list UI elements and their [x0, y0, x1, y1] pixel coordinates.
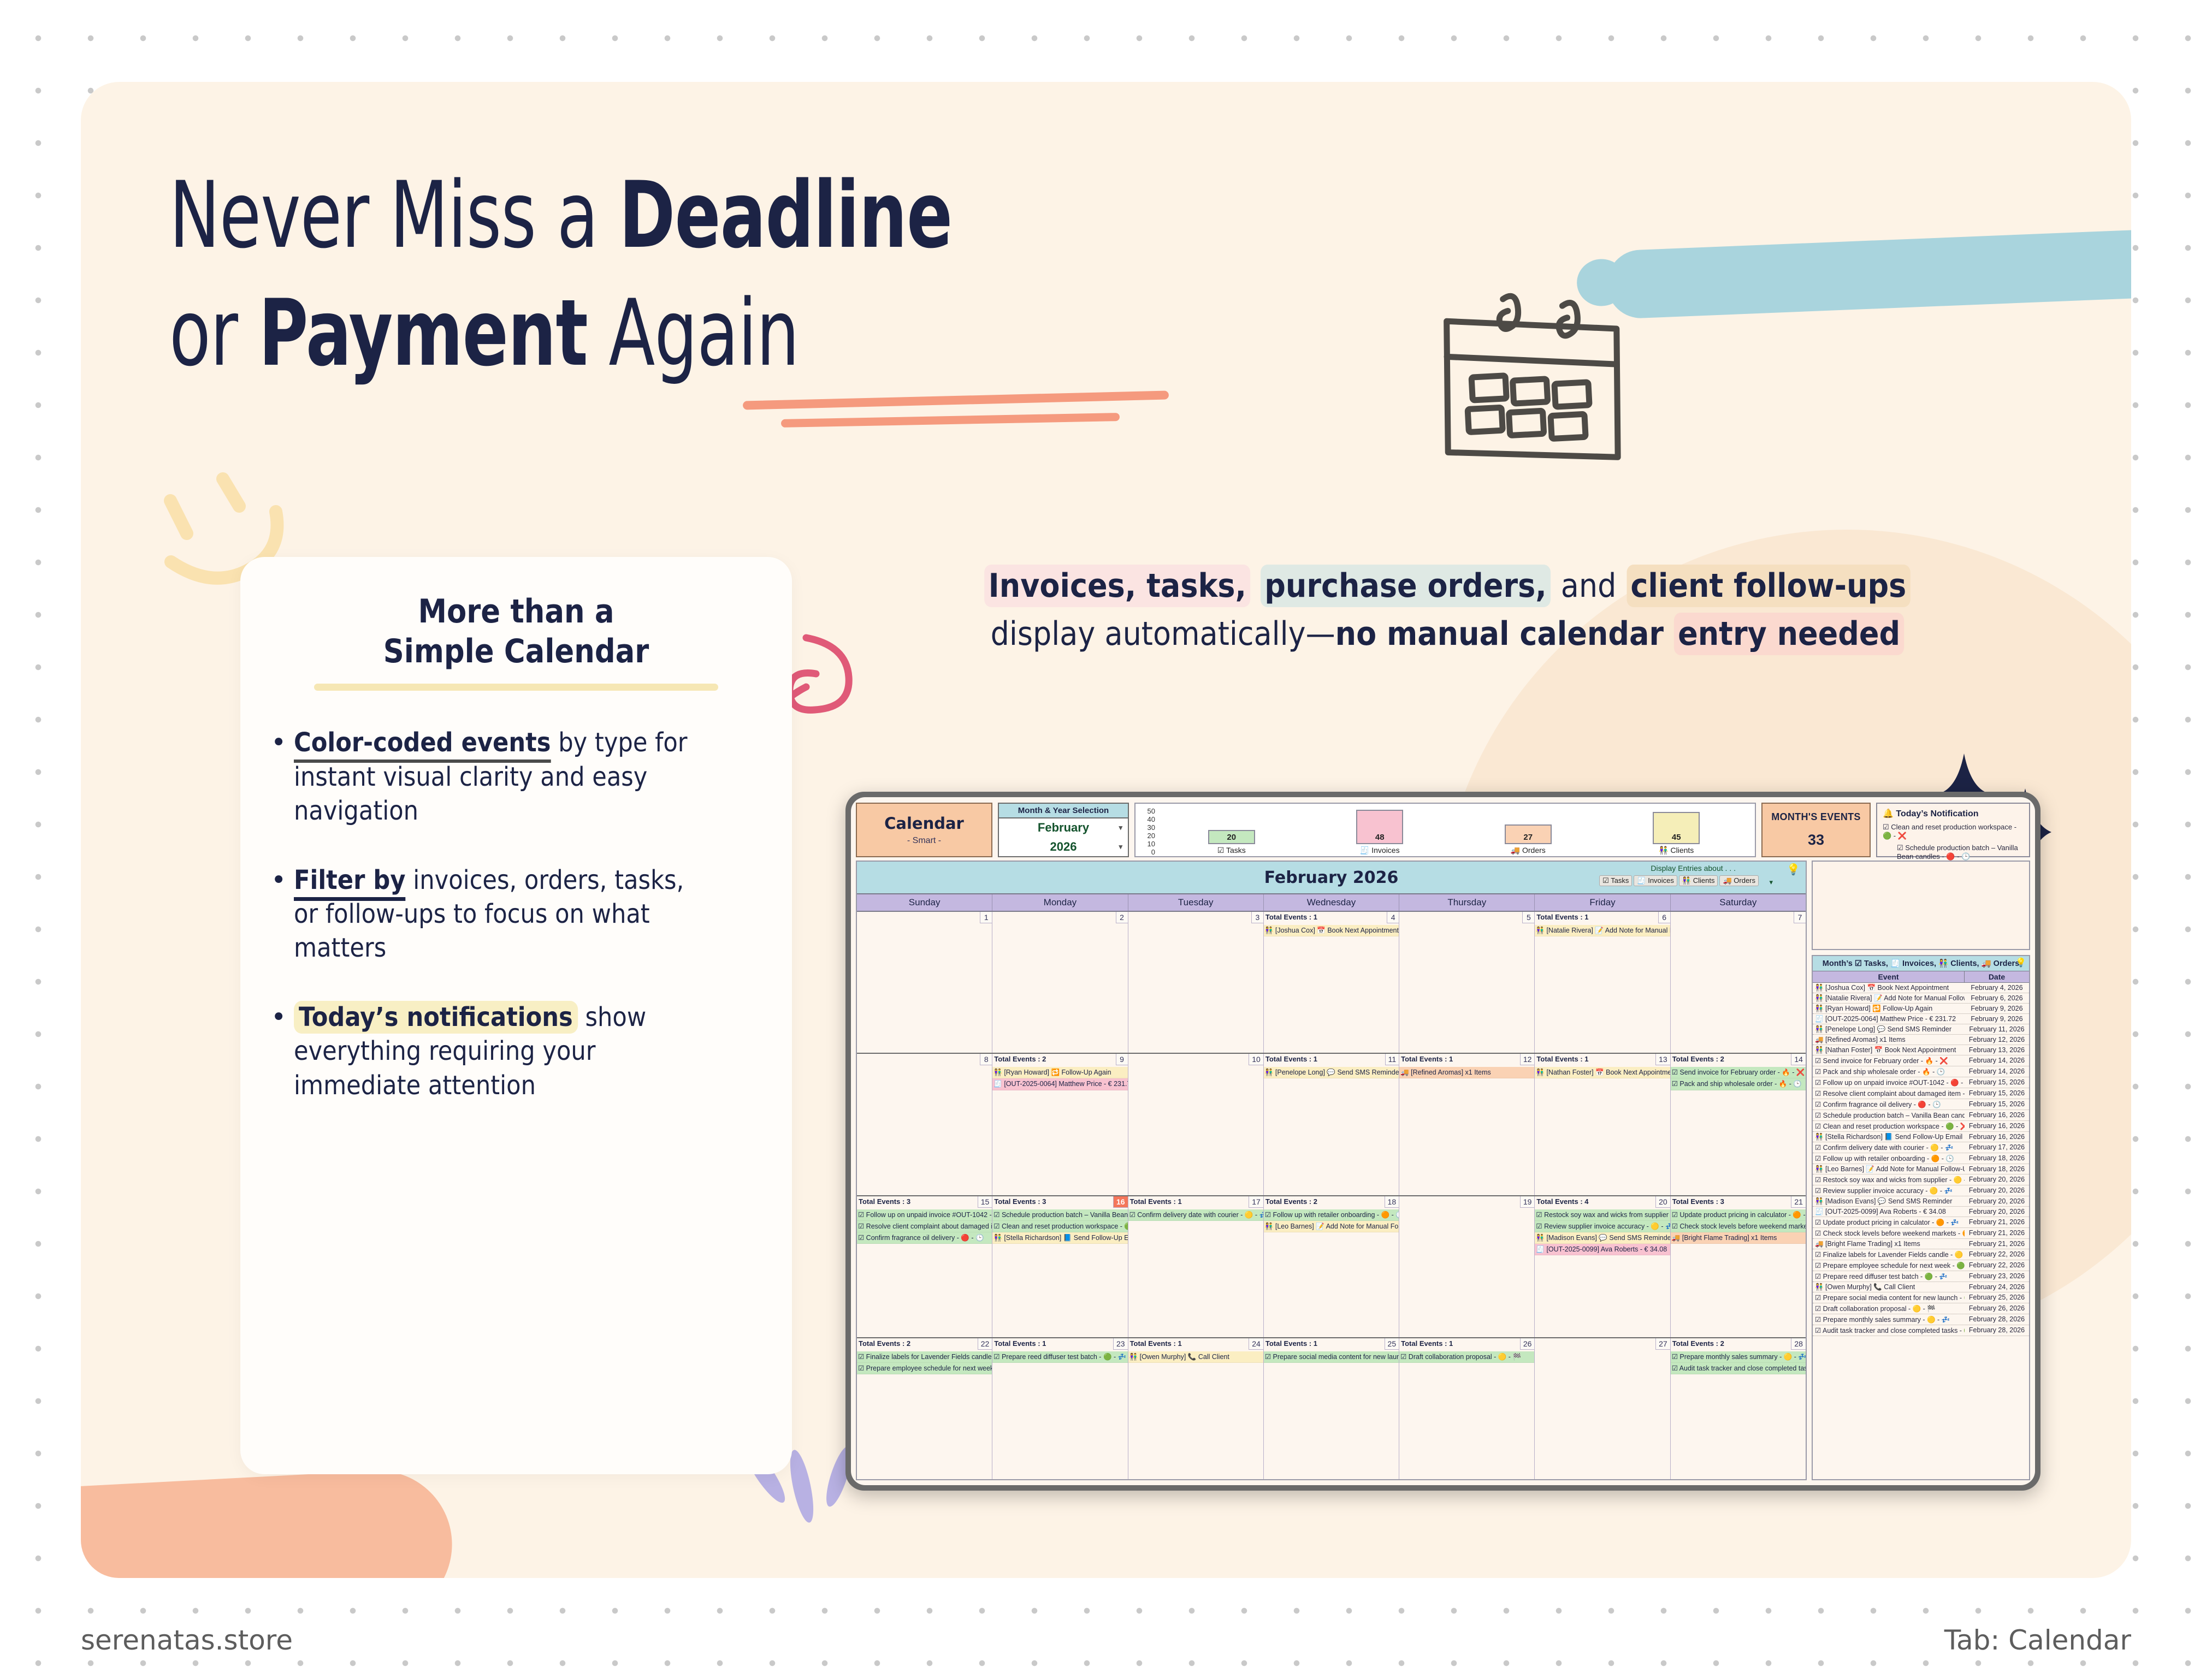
table-row[interactable]: 👫 [Leo Barnes] 📝 Add Note for Manual Fol… [1813, 1164, 2029, 1174]
calendar-event[interactable]: ☑ Finalize labels for Lavender Fields ca… [857, 1351, 992, 1363]
bullet-3-bold: Today’s notifications [294, 1001, 578, 1034]
chart-bar: 27 [1505, 824, 1552, 844]
event-cell: 👫 [Stella Richardson] 📘 Send Follow-Up E… [1813, 1132, 1965, 1142]
day-number: 26 [1520, 1338, 1535, 1350]
calendar-month-title: February 2026 [1264, 868, 1399, 887]
table-row[interactable]: 👫 [Owen Murphy] 📞 Call ClientFebruary 24… [1813, 1282, 2029, 1292]
event-cell: ☑ Send invoice for February order - 🔥 - … [1813, 1055, 1965, 1066]
table-row[interactable]: 👫 [Stella Richardson] 📘 Send Follow-Up E… [1813, 1132, 2029, 1142]
day-total-events: Total Events : 1 [1265, 1055, 1317, 1063]
event-cell: ☑ Draft collaboration proposal - 🟡 - 🏁 [1813, 1303, 1965, 1314]
feature-info-card: More than a Simple Calendar • Color-code… [240, 557, 792, 1474]
table-row[interactable]: ☑ Prepare employee schedule for next wee… [1813, 1260, 2029, 1271]
day-number: 14 [1791, 1054, 1806, 1065]
event-cell: 🧾 [OUT-2025-0064] Matthew Price - € 231.… [1813, 1014, 1965, 1024]
months-events-label: MONTH'S EVENTS [1771, 811, 1861, 823]
calendar-event[interactable]: ☑ Send invoice for February order - 🔥 - … [1671, 1067, 1806, 1078]
day-total-events: Total Events : 1 [1536, 913, 1588, 921]
day-total-events: Total Events : 1 [1265, 913, 1317, 921]
table-row[interactable]: ☑ Check stock levels before weekend mark… [1813, 1228, 2029, 1239]
calendar-day-cell[interactable]: Total Events : 123☑ Prepare reed diffuse… [992, 1338, 1128, 1479]
calendar-day-cell[interactable]: Total Events : 222☑ Finalize labels for … [857, 1338, 992, 1479]
calendar-day-cell[interactable]: Total Events : 112🚚 [Refined Aromas] x1 … [1399, 1054, 1535, 1195]
month-dropdown[interactable]: February ▾ [999, 818, 1128, 838]
event-cell: 👫 [Nathan Foster] 📅 Book Next Appointmen… [1813, 1045, 1965, 1055]
date-cell: February 15, 2026 [1965, 1099, 2029, 1110]
table-row[interactable]: 👫 [Joshua Cox] 📅 Book Next AppointmentFe… [1813, 983, 2029, 993]
calendar-event[interactable]: 👫 [Madison Evans] 💬 Send SMS Reminder [1535, 1232, 1670, 1244]
date-cell: February 21, 2026 [1965, 1217, 2029, 1227]
day-number: 10 [1249, 1054, 1263, 1065]
filter-chip[interactable]: 👫 Clients [1679, 875, 1718, 886]
event-cell: ☑ Prepare reed diffuser test batch - 🟢 -… [1813, 1271, 1965, 1282]
chart-bars: 20☑ Tasks48🧾 Invoices27🚚 Orders45👫 Clien… [1157, 807, 1750, 855]
calendar-event[interactable]: ☑ Schedule production batch – Vanilla Be… [992, 1209, 1127, 1221]
calendar-week-row: 8Total Events : 29👫 [Ryan Howard] 🔁 Foll… [857, 1054, 1806, 1196]
chart-bar-group: 45👫 Clients [1611, 812, 1742, 855]
calendar-week-row: Total Events : 222☑ Finalize labels for … [857, 1338, 1806, 1479]
day-number: 4 [1387, 912, 1399, 923]
date-cell: February 14, 2026 [1965, 1066, 2029, 1077]
list-item: • Color-coded events by type for instant… [271, 726, 761, 828]
notification-spacer-box [1812, 861, 2030, 950]
chart-bar: 20 [1208, 830, 1255, 844]
subheading-part-client-follow-ups: client follow-ups [1627, 565, 1910, 607]
list-rows: 👫 [Joshua Cox] 📅 Book Next AppointmentFe… [1813, 983, 2029, 1336]
year-value: 2026 [1050, 840, 1077, 854]
months-entries-list: Month’s ☑ Tasks, 🧾 Invoices, 👫 Clients, … [1812, 955, 2030, 1480]
calendar-event[interactable]: 👫 [Joshua Cox] 📅 Book Next Appointment [1264, 925, 1399, 936]
calendar-event[interactable]: 👫 [Owen Murphy] 📞 Call Client [1128, 1351, 1263, 1363]
calendar-event[interactable]: ☑ Confirm fragrance oil delivery - 🔴 - 🕒 [857, 1232, 992, 1244]
day-of-week-cell: Friday [1535, 894, 1670, 911]
headline-line1-bold: Deadline [619, 162, 952, 269]
table-row[interactable]: 👫 [Ryan Howard] 🔁 Follow-Up AgainFebruar… [1813, 1004, 2029, 1014]
date-cell: February 9, 2026 [1965, 1014, 2029, 1024]
calendar-day-cell[interactable]: 7 [1671, 912, 1806, 1053]
calendar-day-cell[interactable]: Total Events : 124👫 [Owen Murphy] 📞 Call… [1128, 1338, 1264, 1479]
headline-line2-plain-b: Again [588, 280, 799, 387]
day-number: 15 [978, 1196, 992, 1208]
event-cell: ☑ Confirm delivery date with courier - 🟡… [1813, 1142, 1965, 1153]
date-cell: February 17, 2026 [1965, 1142, 2029, 1153]
info-card-title-line2: Simple Calendar [300, 632, 732, 672]
chart-y-tick: 10 [1139, 840, 1155, 848]
event-cell: ☑ Review supplier invoice accuracy - 🟡 -… [1813, 1185, 1965, 1196]
bullet-text: Today’s notifications show everything re… [294, 1000, 714, 1102]
calendar-event[interactable]: 🧾 [OUT-2025-0099] Ava Roberts - € 34.08 [1535, 1244, 1670, 1255]
chart-bar-label: ☑ Tasks [1217, 846, 1246, 855]
date-cell: February 21, 2026 [1965, 1228, 2029, 1238]
day-number: 18 [1385, 1196, 1399, 1208]
table-row[interactable]: 🚚 [Refined Aromas] x1 ItemsFebruary 12, … [1813, 1035, 2029, 1045]
bullet-1-bold: Color-coded events [294, 727, 551, 763]
day-number: 17 [1249, 1196, 1263, 1208]
month-year-header: Month & Year Selection [999, 804, 1128, 818]
day-total-events: Total Events : 2 [994, 1055, 1046, 1063]
event-cell: 👫 [Leo Barnes] 📝 Add Note for Manual Fol… [1813, 1164, 1965, 1174]
day-total-events: Total Events : 1 [1265, 1339, 1317, 1348]
table-row[interactable]: 👫 [Madison Evans] 💬 Send SMS ReminderFeb… [1813, 1196, 2029, 1207]
day-number: 24 [1249, 1338, 1263, 1350]
headline-line2-bold: Payment [259, 280, 588, 387]
event-cell: ☑ Prepare employee schedule for next wee… [1813, 1260, 1965, 1271]
chart-y-tick: 30 [1139, 823, 1155, 832]
table-row[interactable]: ☑ Finalize labels for Lavender Fields ca… [1813, 1249, 2029, 1260]
spreadsheet-top-bar: Calendar - Smart - Month & Year Selectio… [851, 797, 2035, 861]
calendar-event[interactable]: 👫 [Stella Richardson] 📘 Send Follow-Up E… [992, 1232, 1127, 1244]
list-item: • Filter by invoices, orders, tasks, or … [271, 863, 761, 965]
day-number: 20 [1655, 1196, 1670, 1208]
date-cell: February 25, 2026 [1965, 1292, 2029, 1303]
bullet-text: Filter by invoices, orders, tasks, or fo… [294, 863, 714, 965]
chart-y-tick: 50 [1139, 807, 1155, 815]
day-total-events: Total Events : 1 [1536, 1055, 1588, 1063]
calendar-day-cell[interactable]: Total Events : 16👫 [Natalie Rivera] 📝 Ad… [1535, 912, 1670, 1053]
day-total-events: Total Events : 2 [1265, 1197, 1317, 1206]
calendar-day-cell[interactable]: Total Events : 113👫 [Nathan Foster] 📅 Bo… [1535, 1054, 1670, 1195]
month-year-selection-panel: Month & Year Selection February ▾ 2026 ▾ [998, 803, 1129, 857]
date-cell: February 9, 2026 [1965, 1004, 2029, 1013]
calendar-header-band: February 2026 Display Entries about . . … [857, 862, 1806, 893]
day-total-events: Total Events : 2 [1672, 1339, 1724, 1348]
chart-bar-group: 48🧾 Invoices [1315, 810, 1445, 855]
calendar-day-cell[interactable]: Total Events : 14👫 [Joshua Cox] 📅 Book N… [1264, 912, 1399, 1053]
calendar-day-cell[interactable]: Total Events : 117☑ Confirm delivery dat… [1128, 1196, 1264, 1337]
subheading-part-display-auto: display automatically— [991, 615, 1335, 653]
months-events-card: MONTH'S EVENTS 33 [1761, 803, 1871, 857]
chevron-down-icon: ▾ [1119, 843, 1122, 851]
day-number: 5 [1522, 912, 1534, 923]
event-cell: ☑ Follow up on unpaid invoice #OUT-1042 … [1813, 1077, 1965, 1088]
day-total-events: Total Events : 3 [1672, 1197, 1724, 1206]
date-cell: February 15, 2026 [1965, 1088, 2029, 1099]
calendar-event[interactable]: ☑ Draft collaboration proposal - 🟡 - 🏁 [1399, 1351, 1534, 1363]
calendar-day-cell[interactable]: Total Events : 321☑ Update product prici… [1671, 1196, 1806, 1337]
yellow-title-underline [314, 684, 718, 691]
day-of-week-header: SundayMondayTuesdayWednesdayThursdayFrid… [857, 893, 1806, 912]
date-cell: February 20, 2026 [1965, 1207, 2029, 1217]
event-cell: ☑ Finalize labels for Lavender Fields ca… [1813, 1249, 1965, 1260]
bullet-2-bold: Filter by [294, 865, 406, 901]
table-row[interactable]: ☑ Audit task tracker and close completed… [1813, 1325, 2029, 1336]
spreadsheet-screenshot-frame: Tab: Instructions Calendar - Smart - Mon… [845, 792, 2041, 1491]
event-cell: ☑ Schedule production batch – Vanilla Be… [1813, 1110, 1965, 1120]
day-number: 28 [1791, 1338, 1806, 1350]
date-cell: February 12, 2026 [1965, 1035, 2029, 1045]
calendar-day-cell[interactable]: Total Events : 316☑ Schedule production … [992, 1196, 1128, 1337]
day-number: 16 [1113, 1196, 1128, 1208]
calendar-day-cell[interactable]: 27 [1535, 1338, 1670, 1479]
date-cell: February 22, 2026 [1965, 1260, 2029, 1271]
day-of-week-cell: Tuesday [1128, 894, 1264, 911]
calendar-doodle-icon [1426, 287, 1655, 478]
table-row[interactable]: ☑ Prepare monthly sales summary - 🟡 - 💤F… [1813, 1314, 2029, 1325]
calendar-event[interactable]: 👫 [Natalie Rivera] 📝 Add Note for Manual… [1535, 925, 1670, 936]
calendar-event[interactable]: ☑ Audit task tracker and close completed… [1671, 1363, 1806, 1374]
table-row[interactable]: ☑ Update product pricing in calculator -… [1813, 1217, 2029, 1228]
event-cell: ☑ Confirm fragrance oil delivery - 🔴 - 🕒 [1813, 1099, 1965, 1110]
bullet-dot: • [271, 726, 294, 828]
calendar-day-cell[interactable]: Total Events : 315☑ Follow up on unpaid … [857, 1196, 992, 1337]
calendar-event[interactable]: ☑ Check stock levels before weekend mark… [1671, 1221, 1806, 1232]
headline-line2-plain-a: or [169, 280, 259, 387]
table-row[interactable]: 👫 [Penelope Long] 💬 Send SMS ReminderFeb… [1813, 1024, 2029, 1035]
date-cell: February 16, 2026 [1965, 1121, 2029, 1131]
info-card-title-line1: More than a [300, 592, 732, 632]
day-number: 25 [1385, 1338, 1399, 1350]
right-side-panel: Month’s ☑ Tasks, 🧾 Invoices, 👫 Clients, … [1812, 861, 2030, 1480]
calendar-day-cell[interactable]: 8 [857, 1054, 992, 1195]
months-events-value: 33 [1808, 832, 1824, 849]
bullet-text: Color-coded events by type for instant v… [294, 726, 714, 828]
day-number: 27 [1655, 1338, 1670, 1350]
table-row[interactable]: ☑ Restock soy wax and wicks from supplie… [1813, 1174, 2029, 1185]
spreadsheet-app: Tab: Instructions Calendar - Smart - Mon… [851, 797, 2035, 1485]
date-cell: February 4, 2026 [1965, 983, 2029, 993]
day-number: 6 [1658, 912, 1670, 923]
summary-bar-chart: 50403020100 20☑ Tasks48🧾 Invoices27🚚 Ord… [1134, 803, 1756, 857]
chart-bar-label: 👫 Clients [1659, 846, 1694, 855]
calendar-day-cell[interactable]: Total Events : 29👫 [Ryan Howard] 🔁 Follo… [992, 1054, 1128, 1195]
table-row[interactable]: ☑ Clean and reset production workspace -… [1813, 1121, 2029, 1132]
footer-tab-name: Tab: Calendar [1944, 1624, 2131, 1656]
day-total-events: Total Events : 1 [994, 1339, 1046, 1348]
calendar-event[interactable]: ☑ Review supplier invoice accuracy - 🟡 -… [1535, 1221, 1670, 1232]
subheading-inner: Invoices, tasks, purchase orders, and cl… [951, 562, 1944, 658]
calendar-event[interactable]: ☑ Prepare monthly sales summary - 🟡 - 💤 [1671, 1351, 1806, 1363]
list-column-headers: Event Date [1813, 971, 2029, 983]
day-number: 13 [1655, 1054, 1670, 1065]
calendar-day-cell[interactable]: 2 [992, 912, 1128, 1053]
calendar-event[interactable]: 👫 [Ryan Howard] 🔁 Follow-Up Again [992, 1067, 1127, 1078]
day-number: 21 [1791, 1196, 1806, 1208]
event-cell: 👫 [Ryan Howard] 🔁 Follow-Up Again [1813, 1004, 1965, 1013]
decor-teal-brushstroke [1606, 229, 2131, 319]
day-number: 9 [1116, 1054, 1128, 1065]
event-cell: 👫 [Joshua Cox] 📅 Book Next Appointment [1813, 983, 1965, 993]
event-cell: ☑ Clean and reset production workspace -… [1813, 1121, 1965, 1131]
calendar-event[interactable]: 👫 [Penelope Long] 💬 Send SMS Reminder [1264, 1067, 1399, 1078]
day-total-events: Total Events : 2 [1672, 1055, 1724, 1063]
calendar-day-cell[interactable]: Total Events : 214☑ Send invoice for Feb… [1671, 1054, 1806, 1195]
date-cell: February 15, 2026 [1965, 1077, 2029, 1088]
event-cell: ☑ Prepare monthly sales summary - 🟡 - 💤 [1813, 1314, 1965, 1325]
info-card-title: More than a Simple Calendar [300, 592, 732, 672]
date-cell: February 13, 2026 [1965, 1045, 2029, 1055]
calendar-day-cell[interactable]: Total Events : 218☑ Follow up with retai… [1264, 1196, 1399, 1337]
calendar-day-cell[interactable]: Total Events : 111👫 [Penelope Long] 💬 Se… [1264, 1054, 1399, 1195]
calendar-event[interactable]: ☑ Prepare reed diffuser test batch - 🟢 -… [992, 1351, 1127, 1363]
event-cell: ☑ Follow up with retailer onboarding - 🟠… [1813, 1153, 1965, 1164]
chart-y-tick: 20 [1139, 832, 1155, 840]
calendar-event[interactable]: 🚚 [Refined Aromas] x1 Items [1399, 1067, 1534, 1078]
table-row[interactable]: ☑ Schedule production batch – Vanilla Be… [1813, 1110, 2029, 1121]
column-header-event[interactable]: Event [1813, 971, 1965, 982]
page-title: Never Miss a Deadline or Payment Again [169, 164, 952, 385]
bullet-dot: • [271, 863, 294, 965]
day-total-events: Total Events : 2 [859, 1339, 910, 1348]
day-number: 23 [1113, 1338, 1128, 1350]
subheading: Invoices, tasks, purchase orders, and cl… [896, 562, 1999, 658]
calendar-event[interactable]: ☑ Clean and reset production workspace -… [992, 1221, 1127, 1232]
calendar-day-cell[interactable]: Total Events : 126☑ Draft collaboration … [1399, 1338, 1535, 1479]
event-cell: ☑ Check stock levels before weekend mark… [1813, 1228, 1965, 1238]
month-value: February [1038, 821, 1089, 835]
lightbulb-icon: 💡 [2015, 957, 2026, 968]
calendar-day-cell[interactable]: Total Events : 228☑ Prepare monthly sale… [1671, 1338, 1806, 1479]
date-cell: February 16, 2026 [1965, 1110, 2029, 1120]
filter-chevron-down-icon[interactable]: ▾ [1769, 878, 1773, 887]
table-row[interactable]: ☑ Draft collaboration proposal - 🟡 - 🏁Fe… [1813, 1303, 2029, 1314]
day-total-events: Total Events : 3 [859, 1197, 910, 1206]
table-row[interactable]: ☑ Send invoice for February order - 🔥 - … [1813, 1055, 2029, 1066]
chart-bar: 48 [1356, 810, 1403, 844]
calendar-event[interactable]: ☑ Follow up on unpaid invoice #OUT-1042 … [857, 1209, 992, 1221]
table-row[interactable]: ☑ Review supplier invoice accuracy - 🟡 -… [1813, 1185, 2029, 1196]
chevron-down-icon: ▾ [1119, 823, 1122, 832]
headline-line1-plain: Never Miss a [169, 162, 619, 269]
table-row[interactable]: ☑ Pack and ship wholesale order - 🔥 - 🕒F… [1813, 1066, 2029, 1077]
display-entries-label: Display Entries about . . . [1651, 864, 1736, 873]
date-cell: February 14, 2026 [1965, 1055, 2029, 1066]
table-row[interactable]: ☑ Prepare social media content for new l… [1813, 1292, 2029, 1303]
table-row[interactable]: 👫 [Natalie Rivera] 📝 Add Note for Manual… [1813, 993, 2029, 1004]
calendar-day-cell[interactable]: 3 [1128, 912, 1264, 1053]
date-cell: February 26, 2026 [1965, 1303, 2029, 1314]
event-cell: 👫 [Owen Murphy] 📞 Call Client [1813, 1282, 1965, 1292]
column-header-date[interactable]: Date [1965, 971, 2029, 982]
date-cell: February 20, 2026 [1965, 1196, 2029, 1206]
date-cell: February 21, 2026 [1965, 1239, 2029, 1249]
filter-chip[interactable]: 🧾 Invoices [1634, 875, 1677, 886]
year-dropdown[interactable]: 2026 ▾ [999, 838, 1128, 857]
day-number: 3 [1251, 912, 1263, 923]
calendar-event[interactable]: 🚚 [Bright Flame Trading] x1 Items [1671, 1232, 1806, 1244]
date-cell: February 18, 2026 [1965, 1153, 2029, 1164]
date-cell: February 23, 2026 [1965, 1271, 2029, 1282]
calendar-day-cell[interactable]: 10 [1128, 1054, 1264, 1195]
spreadsheet-body: February 2026 Display Entries about . . … [851, 861, 2035, 1485]
calendar-event[interactable]: ☑ Prepare employee schedule for next wee… [857, 1363, 992, 1374]
notification-row: ☑ Schedule production batch – Vanilla Be… [1883, 844, 2024, 862]
day-of-week-cell: Sunday [857, 894, 992, 911]
table-row[interactable]: ☑ Confirm delivery date with courier - 🟡… [1813, 1142, 2029, 1153]
event-cell: ☑ Update product pricing in calculator -… [1813, 1217, 1965, 1227]
subheading-part-and: and [1561, 567, 1617, 605]
calendar-event[interactable]: ☑ Follow up with retailer onboarding - 🟠… [1264, 1209, 1399, 1221]
day-number: 8 [980, 1054, 992, 1065]
event-cell: ☑ Pack and ship wholesale order - 🔥 - 🕒 [1813, 1066, 1965, 1077]
calendar-event[interactable]: ☑ Resolve client complaint about damaged… [857, 1221, 992, 1232]
day-number: 2 [1116, 912, 1128, 923]
event-cell: ☑ Resolve client complaint about damaged… [1813, 1088, 1965, 1099]
calendar-event[interactable]: ☑ Update product pricing in calculator -… [1671, 1209, 1806, 1221]
table-row[interactable]: 🧾 [OUT-2025-0099] Ava Roberts - € 34.08F… [1813, 1207, 2029, 1217]
day-total-events: Total Events : 1 [1401, 1339, 1453, 1348]
day-of-week-cell: Monday [992, 894, 1128, 911]
headline-line2: or Payment Again [169, 282, 952, 385]
day-number: 7 [1794, 912, 1806, 923]
filter-chip[interactable]: 🚚 Orders [1719, 875, 1759, 886]
table-row[interactable]: ☑ Confirm fragrance oil delivery - 🔴 - 🕒… [1813, 1099, 2029, 1110]
subheading-part-invoices-tasks: Invoices, tasks, [984, 565, 1250, 607]
event-cell: 👫 [Penelope Long] 💬 Send SMS Reminder [1813, 1024, 1965, 1034]
filter-chip[interactable]: ☑ Tasks [1599, 875, 1632, 886]
event-cell: ☑ Prepare social media content for new l… [1813, 1292, 1965, 1303]
table-row[interactable]: ☑ Prepare reed diffuser test batch - 🟢 -… [1813, 1271, 2029, 1282]
calendar-week-row: 123Total Events : 14👫 [Joshua Cox] 📅 Boo… [857, 912, 1806, 1054]
notification-title: 🔔 Today’s Notification [1883, 808, 2024, 819]
calendar-week-rows: 123Total Events : 14👫 [Joshua Cox] 📅 Boo… [857, 912, 1806, 1479]
calendar-event[interactable]: 👫 [Leo Barnes] 📝 Add Note for Manual Fol… [1264, 1221, 1399, 1232]
list-item: • Today’s notifications show everything … [271, 1000, 761, 1102]
table-row[interactable]: ☑ Follow up on unpaid invoice #OUT-1042 … [1813, 1077, 2029, 1088]
calendar-event[interactable]: ☑ Pack and ship wholesale order - 🔥 - 🕒 [1671, 1078, 1806, 1090]
calendar-day-cell[interactable]: 1 [857, 912, 992, 1053]
chart-bar-group: 27🚚 Orders [1463, 824, 1593, 855]
calendar-event[interactable]: 👫 [Nathan Foster] 📅 Book Next Appointmen… [1535, 1067, 1670, 1078]
footer-store-name: serenatas.store [81, 1624, 293, 1656]
day-number: 1 [980, 912, 992, 923]
date-cell: February 22, 2026 [1965, 1249, 2029, 1260]
day-of-week-cell: Saturday [1671, 894, 1806, 911]
day-number: 11 [1385, 1054, 1399, 1065]
table-row[interactable]: ☑ Follow up with retailer onboarding - 🟠… [1813, 1153, 2029, 1164]
table-row[interactable]: 🚚 [Bright Flame Trading] x1 ItemsFebruar… [1813, 1239, 2029, 1249]
calendar-day-cell[interactable]: Total Events : 125☑ Prepare social media… [1264, 1338, 1399, 1479]
chart-y-axis: 50403020100 [1139, 807, 1157, 855]
table-row[interactable]: ☑ Resolve client complaint about damaged… [1813, 1088, 2029, 1099]
list-band-title: Month’s ☑ Tasks, 🧾 Invoices, 👫 Clients, … [1813, 956, 2029, 971]
event-cell: ☑ Audit task tracker and close completed… [1813, 1325, 1965, 1336]
lightbulb-icon: 💡 [1787, 863, 1800, 876]
calendar-day-cell[interactable]: 5 [1399, 912, 1535, 1053]
calendar-week-row: Total Events : 315☑ Follow up on unpaid … [857, 1196, 1806, 1338]
calendar-subtitle-text: - Smart - [907, 836, 941, 846]
notification-title-text: Today’s Notification [1896, 809, 1978, 818]
calendar-event[interactable]: ☑ Confirm delivery date with courier - 🟡… [1128, 1209, 1263, 1221]
calendar-event[interactable]: ☑ Prepare social media content for new l… [1264, 1351, 1399, 1363]
calendar-event[interactable]: 🧾 [OUT-2025-0064] Matthew Price - € 231.… [992, 1078, 1127, 1090]
entry-type-filters: ☑ Tasks🧾 Invoices👫 Clients🚚 Orders [1599, 875, 1759, 886]
chart-y-tick: 0 [1139, 848, 1155, 856]
date-cell: February 24, 2026 [1965, 1282, 2029, 1292]
event-cell: 👫 [Natalie Rivera] 📝 Add Note for Manual… [1813, 993, 1965, 1003]
day-total-events: Total Events : 1 [1130, 1339, 1182, 1348]
date-cell: February 16, 2026 [1965, 1132, 2029, 1142]
day-number: 12 [1520, 1054, 1535, 1065]
chart-y-tick: 40 [1139, 815, 1155, 823]
subheading-part-entry-needed: entry needed [1674, 613, 1905, 655]
calendar-event[interactable]: ☑ Restock soy wax and wicks from supplie… [1535, 1209, 1670, 1221]
day-of-week-cell: Thursday [1399, 894, 1535, 911]
day-total-events: Total Events : 3 [994, 1197, 1046, 1206]
date-cell: February 20, 2026 [1965, 1185, 2029, 1196]
event-cell: 🚚 [Refined Aromas] x1 Items [1813, 1035, 1965, 1045]
day-total-events: Total Events : 1 [1130, 1197, 1182, 1206]
event-cell: 👫 [Madison Evans] 💬 Send SMS Reminder [1813, 1196, 1965, 1206]
calendar-day-cell[interactable]: Total Events : 420☑ Restock soy wax and … [1535, 1196, 1670, 1337]
date-cell: February 20, 2026 [1965, 1174, 2029, 1185]
day-number: 19 [1520, 1196, 1535, 1208]
subheading-part-no-manual: no manual calendar [1335, 615, 1664, 653]
table-row[interactable]: 🧾 [OUT-2025-0064] Matthew Price - € 231.… [1813, 1014, 2029, 1024]
calendar-title-text: Calendar [884, 814, 964, 833]
notification-row: ☑ Clean and reset production workspace -… [1883, 823, 2024, 841]
table-row[interactable]: 👫 [Nathan Foster] 📅 Book Next Appointmen… [1813, 1045, 2029, 1055]
calendar-day-cell[interactable]: 19 [1399, 1196, 1535, 1337]
